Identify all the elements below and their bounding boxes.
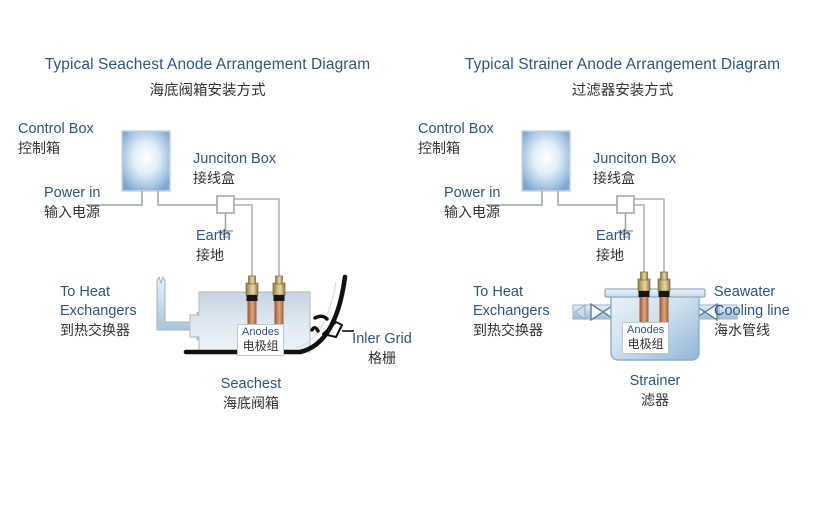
seawater-label-en2: Cooling line bbox=[714, 302, 790, 321]
anodes-callout-en: Anodes bbox=[242, 326, 279, 339]
junction-box-label: Junciton Box 接线盒 bbox=[193, 150, 276, 187]
diagram-canvas: Typical Seachest Anode Arrangement Diagr… bbox=[0, 0, 830, 523]
controlbox-to-junction-wire bbox=[558, 191, 617, 205]
junction-box-label-cn: 接线盒 bbox=[193, 169, 276, 187]
seawater-label-en1: Seawater bbox=[714, 283, 790, 302]
earth-label: Earth 接地 bbox=[196, 227, 231, 264]
control-box-shape bbox=[122, 131, 170, 191]
inlet-grid-label-en: Inler Grid bbox=[350, 330, 414, 349]
junction-box-shape bbox=[617, 196, 634, 213]
strainer-label-cn: 滤器 bbox=[607, 391, 703, 409]
power-in-label-cn: 输入电源 bbox=[444, 203, 500, 221]
power-in-label-cn: 输入电源 bbox=[44, 203, 100, 221]
heat-exchangers-label-cn: 到热交换器 bbox=[473, 321, 550, 339]
control-box-label: Control Box 控制箱 bbox=[418, 120, 494, 157]
seachest-label-en: Seachest bbox=[196, 375, 306, 394]
anode-wire-2 bbox=[234, 199, 279, 283]
seachest-label: Seachest 海底阀箱 bbox=[196, 375, 306, 412]
anodes-callout-cn: 电极组 bbox=[627, 337, 664, 351]
junction-box-label-cn: 接线盒 bbox=[593, 169, 676, 187]
heat-exchangers-label-en2: Exchangers bbox=[60, 302, 137, 321]
inlet-grid-label: Inler Grid 格栅 bbox=[350, 330, 414, 367]
inlet-grid-label-cn: 格栅 bbox=[350, 349, 414, 367]
control-box-label-cn: 控制箱 bbox=[18, 139, 94, 157]
power-in-label-en: Power in bbox=[44, 184, 100, 203]
heat-exchangers-label-en2: Exchangers bbox=[473, 302, 550, 321]
power-in-label-en: Power in bbox=[444, 184, 500, 203]
anode-wire-1 bbox=[234, 205, 252, 283]
control-box-shape bbox=[522, 131, 570, 191]
earth-label-cn: 接地 bbox=[596, 246, 631, 264]
strainer-lid-flange bbox=[605, 289, 705, 297]
junction-box-label-en: Junciton Box bbox=[593, 150, 676, 169]
anodes-callout: Anodes 电极组 bbox=[237, 324, 284, 356]
strainer-diagram-panel: Typical Strainer Anode Arrangement Diagr… bbox=[415, 0, 830, 523]
heat-exchangers-label: To Heat Exchangers 到热交换器 bbox=[473, 283, 550, 339]
junction-box-label: Junciton Box 接线盒 bbox=[593, 150, 676, 187]
seawater-cooling-line-label: Seawater Cooling line 海水管线 bbox=[714, 283, 790, 339]
seawater-label-cn: 海水管线 bbox=[714, 321, 790, 339]
control-box-label-en: Control Box bbox=[18, 120, 94, 139]
anodes-callout-cn: 电极组 bbox=[242, 339, 279, 353]
control-box-label: Control Box 控制箱 bbox=[18, 120, 94, 157]
seachest-label-cn: 海底阀箱 bbox=[196, 394, 306, 412]
control-box-label-cn: 控制箱 bbox=[418, 139, 494, 157]
anode-wire-2 bbox=[634, 199, 664, 279]
heat-exchangers-label-en1: To Heat bbox=[60, 283, 137, 302]
earth-label: Earth 接地 bbox=[596, 227, 631, 264]
seachest-diagram-panel: Typical Seachest Anode Arrangement Diagr… bbox=[0, 0, 415, 523]
earth-label-cn: 接地 bbox=[196, 246, 231, 264]
heat-exchangers-label-cn: 到热交换器 bbox=[60, 321, 137, 339]
anodes-callout: Anodes 电极组 bbox=[622, 322, 669, 354]
junction-box-shape bbox=[217, 196, 234, 213]
heat-exchangers-label-en1: To Heat bbox=[473, 283, 550, 302]
junction-box-label-en: Junciton Box bbox=[193, 150, 276, 169]
control-box-label-en: Control Box bbox=[418, 120, 494, 139]
power-in-label: Power in 输入电源 bbox=[444, 184, 500, 221]
strainer-label: Strainer 滤器 bbox=[607, 372, 703, 409]
controlbox-to-junction-wire bbox=[158, 191, 217, 205]
strainer-label-en: Strainer bbox=[607, 372, 703, 391]
earth-label-en: Earth bbox=[196, 227, 231, 246]
anode-wire-1 bbox=[634, 205, 644, 279]
heat-exchangers-label: To Heat Exchangers 到热交换器 bbox=[60, 283, 137, 339]
earth-label-en: Earth bbox=[596, 227, 631, 246]
anodes-callout-en: Anodes bbox=[627, 324, 664, 337]
power-in-label: Power in 输入电源 bbox=[44, 184, 100, 221]
